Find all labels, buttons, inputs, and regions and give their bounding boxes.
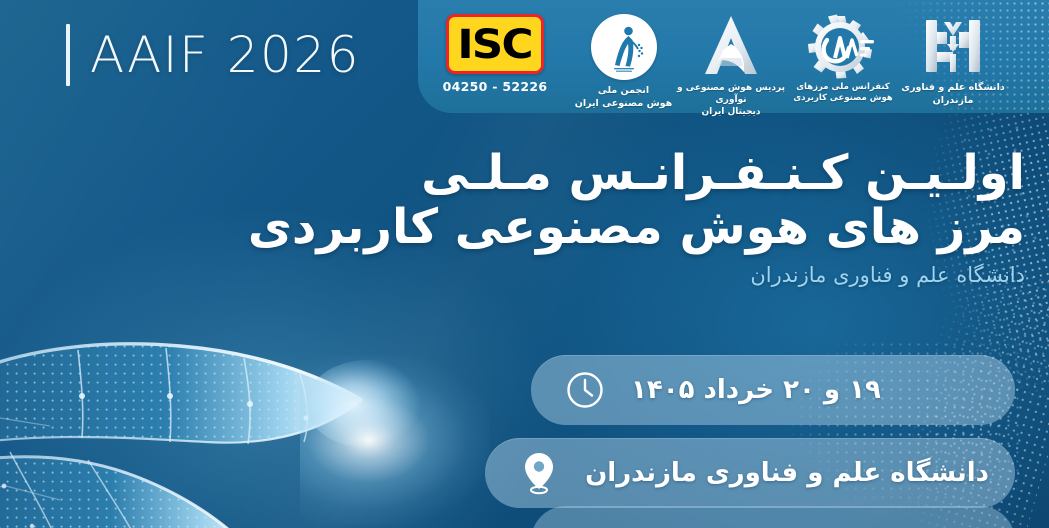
conference-banner: AAIF 2026 ISC 04250 - 52226	[0, 0, 1049, 528]
fingertip-glow	[300, 355, 490, 525]
date-pill-text: ۱۹ و ۲۰ خرداد ۱۴۰۵	[631, 375, 881, 405]
gear-aaif-icon	[805, 14, 881, 80]
logo-bar: ISC 04250 - 52226	[418, 0, 1049, 113]
clock-icon	[565, 370, 605, 410]
headline-subtitle: دانشگاه علم و فناوری مازندران	[285, 263, 1025, 287]
title-line-1: اولـیـن کـنـفـرانـس مـلـی	[285, 148, 1025, 200]
venue-pill[interactable]: دانشگاه علم و فناوری مازندران	[485, 438, 1015, 508]
headline-block: اولـیـن کـنـفـرانـس مـلـی مرز های هوش مص…	[285, 148, 1025, 287]
venue-pill-text: دانشگاه علم و فناوری مازندران	[585, 458, 989, 488]
isc-code: 04250 - 52226	[443, 79, 548, 94]
association-emblem-circle	[591, 14, 657, 80]
digital-ai-innovation-campus-logo: پردیس هوش مصنوعی و نوآوری دیجیتال ایران	[677, 14, 785, 118]
digital-wireframe-hand	[0, 300, 490, 528]
iran-ai-association-logo: انجمن ملی هوش مصنوعی ایران	[572, 14, 675, 111]
university-caption: دانشگاه علم و فناوری مازندران	[901, 82, 1004, 108]
mazandaran-university-logo: دانشگاه علم و فناوری مازندران	[901, 14, 1005, 108]
letter-a-emblem-icon	[697, 14, 765, 78]
conference-caption: کنفرانس ملی مرزهای هوش مصنوعی کاربردی	[793, 82, 892, 105]
date-pill[interactable]: ۱۹ و ۲۰ خرداد ۱۴۰۵	[531, 355, 1015, 425]
info-pills: ۱۹ و ۲۰ خرداد ۱۴۰۵ دانشگاه علم و فناوری …	[485, 355, 1015, 508]
isc-logo: ISC 04250 - 52226	[434, 14, 556, 94]
aaif-wordmark: AAIF 2026	[66, 22, 360, 88]
map-pin-icon	[519, 451, 559, 495]
aaif-conference-gear-logo: کنفرانس ملی مرزهای هوش مصنوعی کاربردی	[787, 14, 899, 105]
wordmark-divider-bar	[66, 24, 70, 86]
third-pill-partial[interactable]	[531, 506, 1015, 528]
university-emblem-icon	[920, 14, 986, 78]
isc-badge: ISC	[446, 14, 544, 74]
association-caption: انجمن ملی هوش مصنوعی ایران	[575, 85, 673, 111]
title-line-2: مرز های هوش مصنوعی کاربردی	[285, 202, 1025, 254]
human-figure-icon	[598, 21, 650, 73]
wordmark-text: AAIF 2026	[90, 30, 360, 80]
isc-badge-text: ISC	[458, 24, 532, 64]
campus-caption: پردیس هوش مصنوعی و نوآوری دیجیتال ایران	[677, 82, 785, 118]
